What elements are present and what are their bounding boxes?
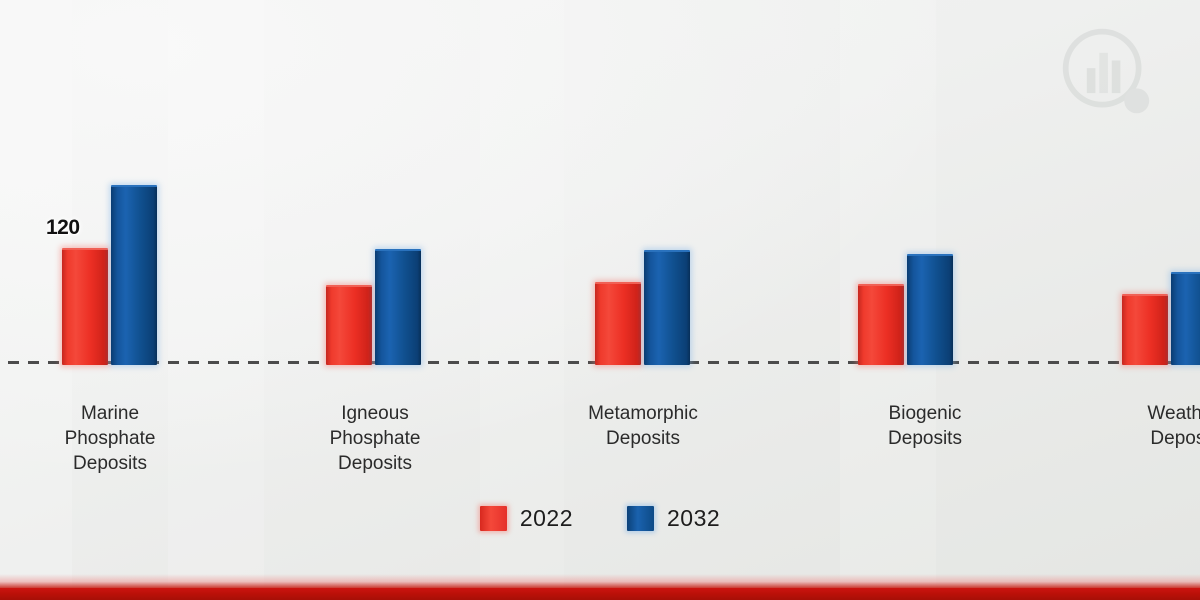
chart-legend: 2022 2032 (0, 505, 1200, 532)
bar-2022-2 (326, 285, 372, 365)
bar-2032-4 (907, 254, 953, 365)
category-label-4: Biogenic Deposits (830, 401, 1020, 451)
legend-item-2022[interactable]: 2022 (480, 505, 573, 532)
footer-glow (0, 574, 1200, 588)
bar-2022-5 (1122, 294, 1168, 365)
bar-2022-4 (858, 284, 904, 365)
bar-2032-5 (1171, 272, 1200, 365)
legend-swatch-2032 (627, 506, 654, 531)
category-label-5: Weathe Deposi (1105, 401, 1200, 451)
bar-2032-1 (111, 185, 157, 365)
legend-swatch-2022 (480, 506, 507, 531)
bar-2032-3 (644, 250, 690, 365)
legend-item-2032[interactable]: 2032 (627, 505, 720, 532)
category-label-3: Metamorphic Deposits (528, 401, 758, 451)
chart-canvas: 120Marine Phosphate DepositsIgneous Phos… (0, 0, 1200, 600)
bar-2022-3 (595, 282, 641, 365)
category-label-1: Marine Phosphate Deposits (15, 401, 205, 476)
bar-2022-1 (62, 248, 108, 365)
legend-label-2022: 2022 (520, 505, 573, 532)
footer-bar (0, 588, 1200, 600)
category-label-2: Igneous Phosphate Deposits (280, 401, 470, 476)
legend-label-2032: 2032 (667, 505, 720, 532)
bar-2032-2 (375, 249, 421, 365)
value-label-2022-1: 120 (46, 216, 80, 240)
